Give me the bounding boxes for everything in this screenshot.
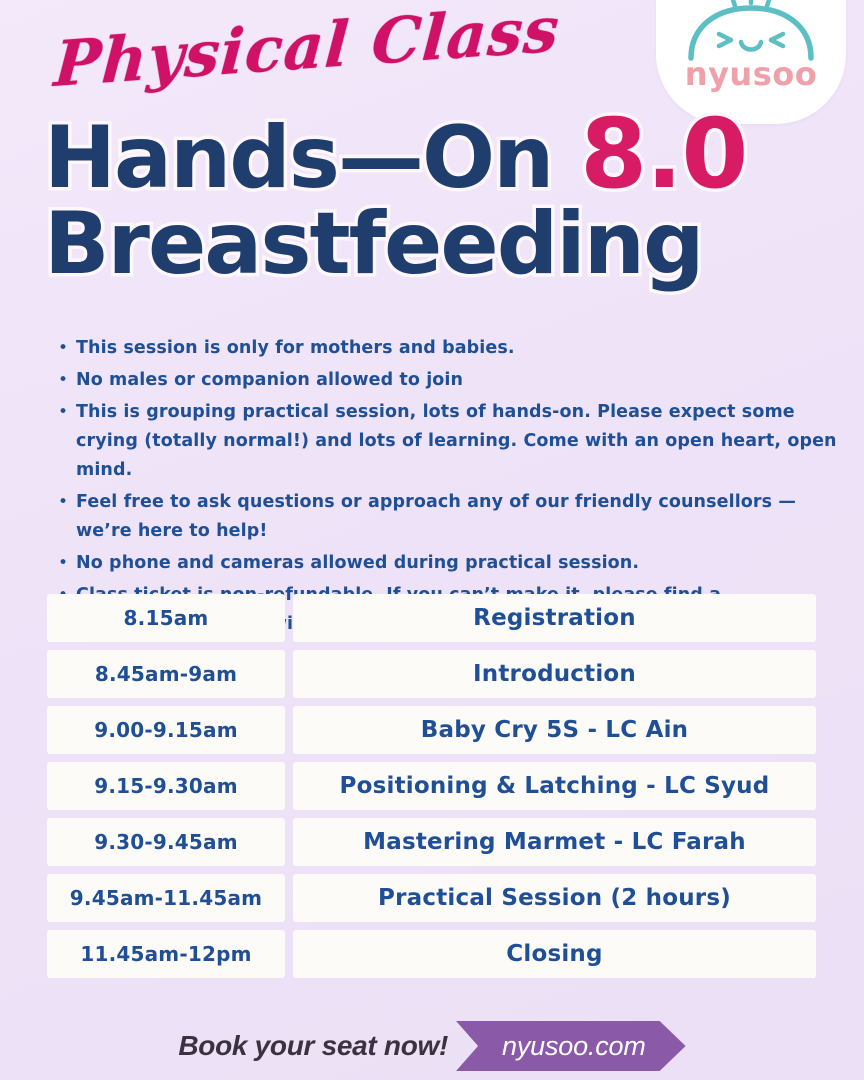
list-item: • This session is only for mothers and b… [58,334,848,363]
cta-url-banner[interactable]: nyusoo.com [456,1021,686,1071]
list-item: • This is grouping practical session, lo… [58,398,848,485]
table-row: 9.15-9.30am Positioning & Latching - LC … [47,762,816,810]
bullet-dot-icon: • [58,488,76,517]
schedule-time: 8.45am-9am [47,650,285,698]
note-text: No phone and cameras allowed during prac… [76,549,639,578]
list-item: • No males or companion allowed to join [58,366,848,395]
title-line-1: Hands—On 8.0 [44,108,834,201]
schedule-time: 9.00-9.15am [47,706,285,754]
table-row: 8.15am Registration [47,594,816,642]
schedule-time: 9.15-9.30am [47,762,285,810]
schedule-time: 8.15am [47,594,285,642]
title-text-1: Hands—On [44,108,552,208]
bullet-dot-icon: • [58,366,76,395]
schedule-activity: Baby Cry 5S - LC Ain [293,706,816,754]
note-text: This session is only for mothers and bab… [76,334,515,363]
schedule-activity: Mastering Marmet - LC Farah [293,818,816,866]
schedule-activity: Introduction [293,650,816,698]
note-text: No males or companion allowed to join [76,366,463,395]
nyusoo-face-icon [685,0,817,62]
cta-url-text: nyusoo.com [502,1031,646,1062]
schedule-activity: Closing [293,930,816,978]
eyebrow-title: Physical Class [52,0,562,101]
schedule-time: 9.30-9.45am [47,818,285,866]
title-line-2: Breastfeeding [44,203,834,286]
schedule-time: 11.45am-12pm [47,930,285,978]
schedule-activity: Practical Session (2 hours) [293,874,816,922]
note-text: This is grouping practical session, lots… [76,398,848,485]
brand-logo-inner: nyusoo [656,0,846,90]
page-title: Hands—On 8.0 Breastfeeding [44,108,834,287]
table-row: 9.00-9.15am Baby Cry 5S - LC Ain [47,706,816,754]
bullet-dot-icon: • [58,334,76,363]
brand-wordmark: nyusoo [685,58,817,90]
bullet-dot-icon: • [58,549,76,578]
table-row: 9.30-9.45am Mastering Marmet - LC Farah [47,818,816,866]
schedule-time: 9.45am-11.45am [47,874,285,922]
schedule-activity: Positioning & Latching - LC Syud [293,762,816,810]
schedule-table: 8.15am Registration 8.45am-9am Introduct… [47,594,816,986]
schedule-activity: Registration [293,594,816,642]
list-item: • Feel free to ask questions or approach… [58,488,848,546]
cta-label: Book your seat now! [178,1030,448,1062]
table-row: 9.45am-11.45am Practical Session (2 hour… [47,874,816,922]
table-row: 11.45am-12pm Closing [47,930,816,978]
note-text: Feel free to ask questions or approach a… [76,488,848,546]
poster-canvas: nyusoo Physical Class Hands—On 8.0 Breas… [0,0,864,1080]
footer-cta: Book your seat now! nyusoo.com [0,1018,864,1074]
list-item: • No phone and cameras allowed during pr… [58,549,848,578]
bullet-dot-icon: • [58,398,76,427]
table-row: 8.45am-9am Introduction [47,650,816,698]
